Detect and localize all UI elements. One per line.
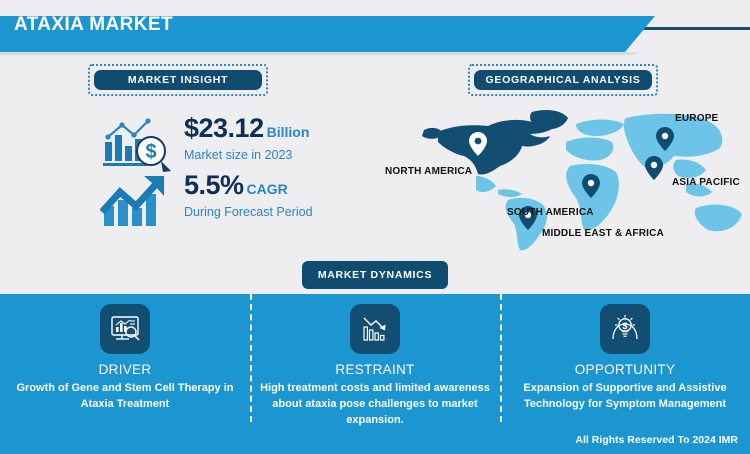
stat-market-size-value: $23.12 (184, 113, 264, 143)
stat-cagr-value: 5.5% (184, 170, 244, 200)
stat-cagr-unit: CAGR (247, 181, 288, 197)
map-label-south-america: SOUTH AMERICA (507, 207, 594, 218)
stat-market-size-text: $23.12Billion Market size in 2023 (184, 115, 309, 162)
header-bar-shadow (0, 52, 640, 55)
stat-market-size-caption: Market size in 2023 (184, 148, 309, 162)
map-pin-asia-pacific (645, 156, 663, 180)
stat-cagr-text: 5.5%CAGR During Forecast Period (184, 172, 313, 219)
lightbulb-dollar-icon: $ (600, 304, 650, 354)
market-insight-label: MARKET INSIGHT (128, 74, 228, 86)
stat-market-size-line: $23.12Billion (184, 115, 309, 142)
map-label-middle-east-africa: MIDDLE EAST & AFRICA (542, 228, 664, 239)
market-dynamics-panel: DRIVER Growth of Gene and Stem Cell Ther… (0, 294, 750, 454)
geographical-analysis-header: GEOGRAPHICAL ANALYSIS (468, 64, 658, 96)
market-dynamics-header: MARKET DYNAMICS (302, 261, 448, 289)
opportunity-description: Expansion of Supportive and Assistive Te… (500, 381, 750, 413)
dynamics-column-driver: DRIVER Growth of Gene and Stem Cell Ther… (0, 304, 250, 413)
stat-cagr-line: 5.5%CAGR (184, 172, 313, 199)
copyright-note: All Rights Reserved To 2024 IMR (575, 434, 738, 446)
monitor-analytics-icon (100, 304, 150, 354)
driver-description: Growth of Gene and Stem Cell Therapy in … (0, 381, 250, 413)
driver-title: DRIVER (0, 362, 250, 377)
bar-chart-dollar-icon: $ (100, 115, 178, 173)
stat-cagr-caption: During Forecast Period (184, 205, 313, 219)
restraint-title: RESTRAINT (250, 362, 500, 377)
stat-market-size-unit: Billion (267, 124, 310, 140)
opportunity-title: OPPORTUNITY (500, 362, 750, 377)
svg-text:$: $ (145, 141, 156, 163)
svg-text:$: $ (622, 321, 628, 332)
growth-arrow-icon (100, 172, 178, 230)
geographical-analysis-label: GEOGRAPHICAL ANALYSIS (486, 74, 641, 86)
map-region-north-america (422, 110, 568, 197)
geographical-analysis-pill: GEOGRAPHICAL ANALYSIS (474, 70, 652, 90)
page-title: ATAXIA MARKET (14, 14, 173, 36)
map-label-asia-pacific: ASIA PACIFIC (672, 177, 740, 188)
infographic-page: ATAXIA MARKET MARKET INSIGHT $ (0, 0, 750, 454)
world-map: NORTH AMERICA SOUTH AMERICA EUROPE ASIA … (380, 104, 750, 254)
restraint-description: High treatment costs and limited awarene… (250, 381, 500, 429)
dynamics-column-opportunity: $ OPPORTUNITY Expansion of Supportive an… (500, 304, 750, 413)
market-insight-pill: MARKET INSIGHT (94, 70, 262, 90)
market-dynamics-label: MARKET DYNAMICS (318, 269, 432, 281)
map-region-asia-pacific (624, 114, 742, 231)
dynamics-column-restraint: RESTRAINT High treatment costs and limit… (250, 304, 500, 429)
market-insight-header: MARKET INSIGHT (88, 64, 268, 96)
declining-chart-icon (350, 304, 400, 354)
map-label-north-america: NORTH AMERICA (385, 166, 472, 177)
map-label-europe: EUROPE (675, 113, 718, 124)
